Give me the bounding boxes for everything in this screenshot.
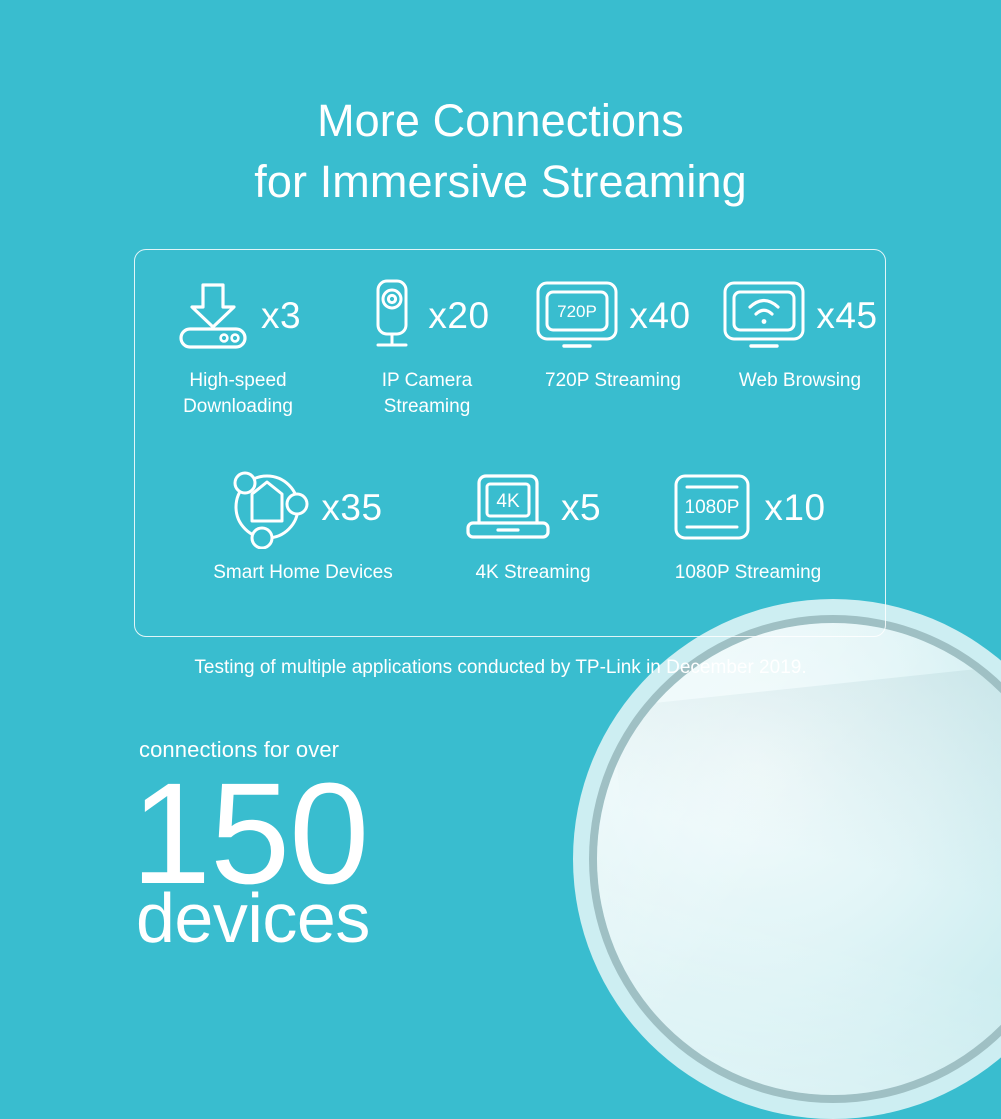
download-device-icon bbox=[175, 279, 251, 351]
app-item-web-browsing: x45 Web Browsing bbox=[713, 276, 887, 394]
app-item-high-speed-downloading: x3 High-speed Downloading bbox=[135, 276, 341, 420]
app-item-caption: 4K Streaming bbox=[475, 560, 590, 586]
app-item-multiplier: x20 bbox=[428, 297, 489, 334]
app-item-caption: 1080P Streaming bbox=[675, 560, 821, 586]
laptop-icon-label: 4K bbox=[496, 491, 520, 512]
app-item-caption: 720P Streaming bbox=[545, 368, 681, 394]
app-item-caption: IP Camera Streaming bbox=[382, 368, 472, 420]
monitor-720p-icon: 720P bbox=[535, 280, 619, 350]
app-item-multiplier: x35 bbox=[321, 489, 382, 526]
applications-row-1: x3 High-speed Downloading bbox=[135, 276, 887, 420]
page-title-line-1: More Connections bbox=[0, 90, 1001, 151]
app-item-720p-streaming: 720P x40 720P Streaming bbox=[513, 276, 713, 394]
app-item-caption: Smart Home Devices bbox=[213, 560, 393, 586]
app-item-icon-row: x20 bbox=[364, 276, 489, 354]
screen-1080p-icon: 1080P bbox=[670, 472, 754, 542]
app-item-icon-row: x35 bbox=[223, 468, 382, 546]
app-item-icon-row: x3 bbox=[175, 276, 301, 354]
applications-panel: x3 High-speed Downloading bbox=[134, 249, 886, 637]
app-item-4k-streaming: 4K x5 4K Streaming bbox=[433, 468, 633, 586]
app-item-icon-row: 1080P x10 bbox=[670, 468, 825, 546]
app-item-multiplier: x40 bbox=[629, 297, 690, 334]
app-item-caption: Web Browsing bbox=[739, 368, 861, 394]
app-item-icon-row: 4K x5 bbox=[465, 468, 601, 546]
app-item-icon-row: x45 bbox=[722, 276, 877, 354]
app-item-caption: High-speed Downloading bbox=[183, 368, 293, 420]
app-item-ip-camera-streaming: x20 IP Camera Streaming bbox=[341, 276, 513, 420]
app-item-multiplier: x10 bbox=[764, 489, 825, 526]
app-item-multiplier: x3 bbox=[261, 297, 301, 334]
laptop-4k-icon: 4K bbox=[465, 471, 551, 543]
app-item-icon-row: 720P x40 bbox=[535, 276, 690, 354]
page-title-line-2: for Immersive Streaming bbox=[0, 151, 1001, 212]
app-item-smart-home-devices: x35 Smart Home Devices bbox=[173, 468, 433, 586]
ip-camera-icon bbox=[364, 278, 418, 352]
applications-row-2: x35 Smart Home Devices bbox=[173, 468, 863, 586]
monitor-wifi-icon bbox=[722, 280, 806, 350]
page-title: More Connections for Immersive Streaming bbox=[0, 90, 1001, 212]
testing-footnote: Testing of multiple applications conduct… bbox=[0, 657, 1001, 679]
screen-icon-label: 1080P bbox=[685, 497, 740, 518]
summary-unit: devices bbox=[136, 883, 370, 953]
monitor-icon-label: 720P bbox=[558, 302, 598, 321]
app-item-multiplier: x45 bbox=[816, 297, 877, 334]
app-item-1080p-streaming: 1080P x10 1080P Streaming bbox=[633, 468, 863, 586]
smart-home-network-icon bbox=[223, 465, 311, 549]
promo-page: More Connections for Immersive Streaming bbox=[0, 0, 1001, 1001]
app-item-multiplier: x5 bbox=[561, 489, 601, 526]
